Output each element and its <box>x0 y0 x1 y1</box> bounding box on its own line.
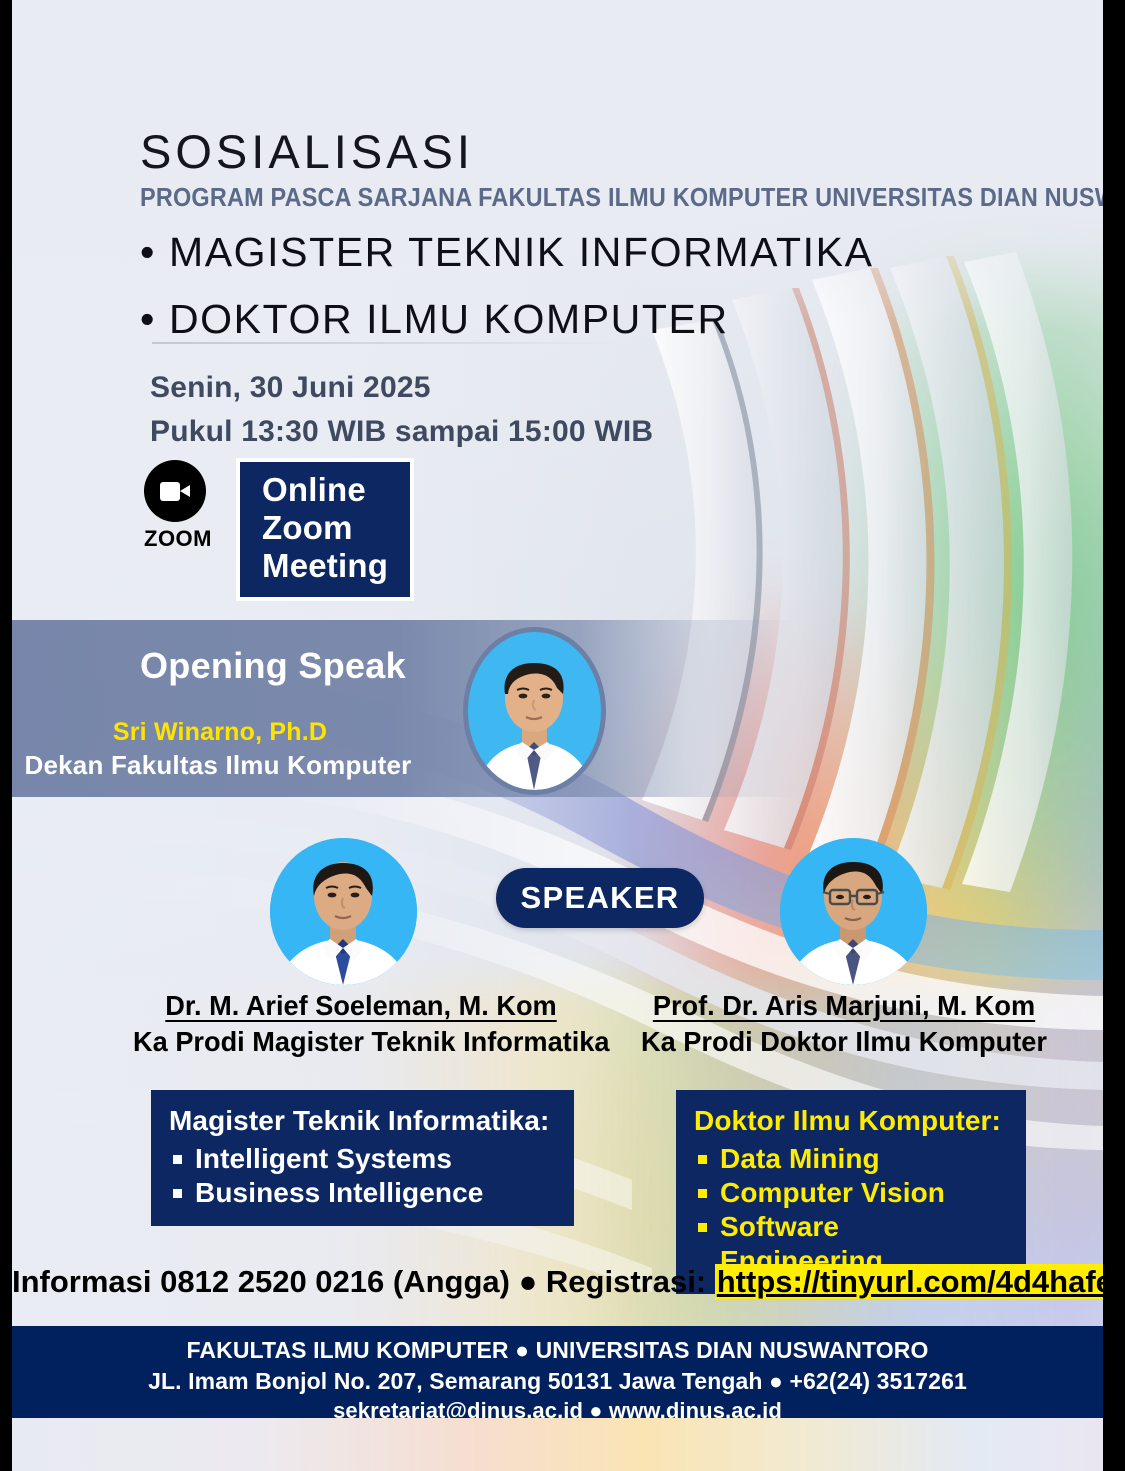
footer-bar: FAKULTAS ILMU KOMPUTER ● UNIVERSITAS DIA… <box>12 1326 1103 1418</box>
footer-address: JL. Imam Bonjol No. 207, Semarang 50131 … <box>12 1366 1103 1397</box>
speaker-2-avatar <box>780 838 927 985</box>
page-title: SOSIALISASI <box>140 128 1090 175</box>
footer-bottom-strip <box>12 1418 1103 1471</box>
opening-speaker-avatar <box>463 627 606 795</box>
speaker-2-name: Prof. Dr. Aris Marjuni, M. Kom <box>640 990 1047 1022</box>
program-box-doktor-list: Data Mining Computer Vision Software Eng… <box>694 1142 1008 1279</box>
speaker-1-name: Dr. M. Arief Soeleman, M. Kom <box>133 990 589 1022</box>
footer-institution: FAKULTAS ILMU KOMPUTER ● UNIVERSITAS DIA… <box>12 1335 1103 1366</box>
online-zoom-meeting-button[interactable]: Online Zoom Meeting <box>236 458 414 601</box>
header-block: SOSIALISASI PROGRAM PASCA SARJANA FAKULT… <box>140 128 1090 346</box>
opening-speaker-role: Dekan Fakultas Ilmu Komputer <box>12 750 424 781</box>
speaker-badge: SPEAKER <box>496 868 704 928</box>
program-box-magister-title: Magister Teknik Informatika: <box>169 1104 556 1139</box>
list-item: Computer Vision <box>694 1176 1008 1210</box>
program-line-1: • MAGISTER TEKNIK INFORMATIKA <box>140 225 1090 280</box>
avatar-ring <box>463 627 606 795</box>
list-item: Intelligent Systems <box>169 1142 556 1176</box>
opening-speak-heading: Opening Speak <box>140 645 406 687</box>
registration-info: Informasi 0812 2520 0216 (Angga) ● Regis… <box>12 1264 1103 1300</box>
speaker-badge-label: SPEAKER <box>521 880 680 916</box>
event-schedule: Senin, 30 Juni 2025 Pukul 13:30 WIB samp… <box>150 366 653 454</box>
list-item: Data Mining <box>694 1142 1008 1176</box>
zoom-video-camera-icon <box>144 460 206 522</box>
event-time: Pukul 13:30 WIB sampai 15:00 WIB <box>150 410 653 454</box>
online-zoom-meeting-label: Online Zoom Meeting <box>262 471 388 584</box>
poster-canvas: SOSIALISASI PROGRAM PASCA SARJANA FAKULT… <box>12 0 1103 1471</box>
speaker-1-avatar <box>270 838 417 985</box>
speaker-1-role: Ka Prodi Magister Teknik Informatika <box>133 1026 589 1058</box>
program-box-magister: Magister Teknik Informatika: Intelligent… <box>151 1090 574 1226</box>
list-item: Business Intelligence <box>169 1176 556 1210</box>
zoom-logo: ZOOM <box>144 460 206 552</box>
program-box-doktor-title: Doktor Ilmu Komputer: <box>694 1104 1008 1139</box>
page-subtitle: PROGRAM PASCA SARJANA FAKULTAS ILMU KOMP… <box>140 184 1014 213</box>
zoom-wordmark: ZOOM <box>144 526 206 552</box>
registration-info-prefix: Informasi 0812 2520 0216 (Angga) ● Regis… <box>12 1264 715 1299</box>
event-date: Senin, 30 Juni 2025 <box>150 366 653 410</box>
program-line-2: • DOKTOR ILMU KOMPUTER <box>140 292 1090 347</box>
opening-speaker-name: Sri Winarno, Ph.D <box>12 718 428 747</box>
speaker-2-role: Ka Prodi Doktor Ilmu Komputer <box>640 1026 1047 1058</box>
header-divider <box>152 342 624 344</box>
registration-url[interactable]: https://tinyurl.com/4d4hafee <box>715 1264 1103 1299</box>
program-box-magister-list: Intelligent Systems Business Intelligenc… <box>169 1142 556 1210</box>
